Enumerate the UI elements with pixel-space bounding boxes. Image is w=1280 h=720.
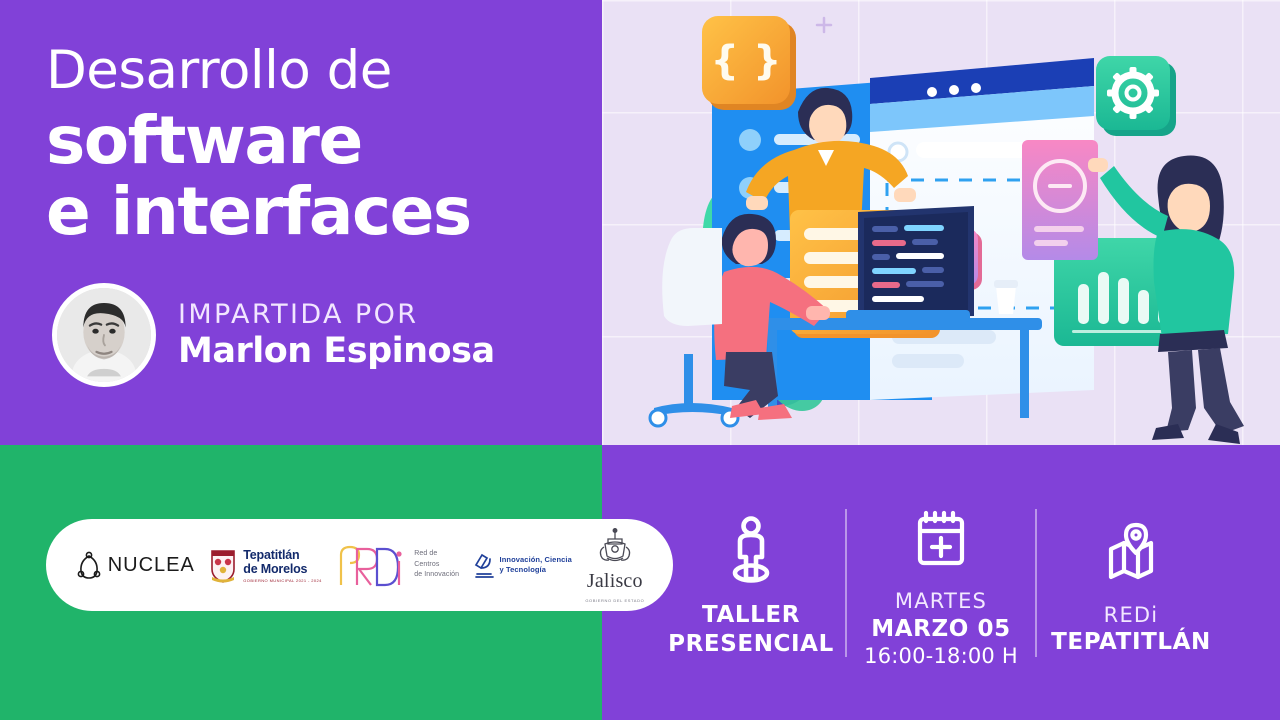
- calendar-plus-icon: [913, 501, 969, 575]
- tepatitlan-crest-icon: [208, 546, 238, 584]
- gear-badge-icon: [1096, 56, 1176, 136]
- logo-innovacion-ciencia-tecnologia: Innovación, Ciencia y Tecnología: [473, 550, 572, 580]
- info-date-line-2: MARZO 05: [871, 615, 1010, 643]
- poster: { }: [0, 0, 1280, 720]
- redi-sub-3: de Innovación: [414, 570, 459, 581]
- pink-card: [1022, 140, 1098, 260]
- microscope-icon: [473, 550, 495, 580]
- info-date-line-1: MARTES: [895, 589, 987, 615]
- info-item-modality: TALLER PRESENCIAL: [665, 507, 837, 657]
- presenter-name: Marlon Espinosa: [178, 331, 495, 372]
- avatar: [52, 283, 156, 387]
- svg-text:{ }: { }: [711, 38, 782, 84]
- redi-monogram-icon: [335, 539, 409, 591]
- info-modality-line-1: TALLER: [702, 601, 800, 629]
- logo-nuclea: NUCLEA: [75, 550, 195, 580]
- logo-redi: Red de Centros de Innovación: [335, 539, 459, 591]
- headline: Desarrollo de software e interfaces: [46, 44, 586, 248]
- ict-line-2: y Tecnología: [500, 565, 572, 575]
- person-icon: [725, 513, 777, 587]
- illustration-graphic: { }: [602, 0, 1280, 445]
- nuclea-wordmark: NUCLEA: [108, 554, 195, 577]
- ict-line-1: Innovación, Ciencia: [500, 555, 572, 565]
- map-pin-icon: [1102, 515, 1160, 589]
- info-item-date: MARTES MARZO 05 16:00-18:00 H: [855, 495, 1027, 670]
- presenter-block: IMPARTIDA POR Marlon Espinosa: [52, 283, 495, 387]
- presenter-label: IMPARTIDA POR: [178, 300, 495, 330]
- logo-tepatitlan: Tepatitlán de Morelos GOBIERNO MUNICIPAL…: [208, 546, 321, 584]
- code-badge-icon: { }: [702, 16, 796, 110]
- event-info-bar: TALLER PRESENCIAL MARTES MARZO 05 16:00-…: [602, 445, 1280, 720]
- tepatitlan-line-2: de Morelos: [243, 562, 321, 576]
- info-item-location: REDi TEPATITLÁN: [1045, 509, 1217, 657]
- info-location-line-2: TEPATITLÁN: [1051, 628, 1211, 656]
- plus-mark: [817, 18, 831, 32]
- info-date-line-3: 16:00-18:00 H: [864, 643, 1018, 670]
- tepatitlan-line-1: Tepatitlán: [243, 548, 321, 562]
- redi-sub-1: Red de: [414, 549, 459, 560]
- tepatitlan-line-3: GOBIERNO MUNICIPAL 2021 - 2024: [243, 578, 321, 583]
- info-divider-1: [845, 509, 847, 657]
- info-divider-2: [1035, 509, 1037, 657]
- redi-sub-2: Centros: [414, 560, 459, 571]
- nuclea-atom-icon: [75, 550, 103, 580]
- avatar-photo-icon: [57, 288, 151, 382]
- headline-line-2: software: [46, 105, 586, 176]
- headline-line-3: e interfaces: [46, 176, 586, 247]
- sponsor-logo-bar: NUCLEA Tepatitlán de Morelos GOBIERNO MU…: [46, 519, 673, 611]
- illustration-panel: { }: [602, 0, 1280, 445]
- headline-line-1: Desarrollo de: [46, 44, 586, 97]
- info-location-line-1: REDi: [1104, 603, 1159, 629]
- info-modality-line-2: PRESENCIAL: [668, 630, 834, 658]
